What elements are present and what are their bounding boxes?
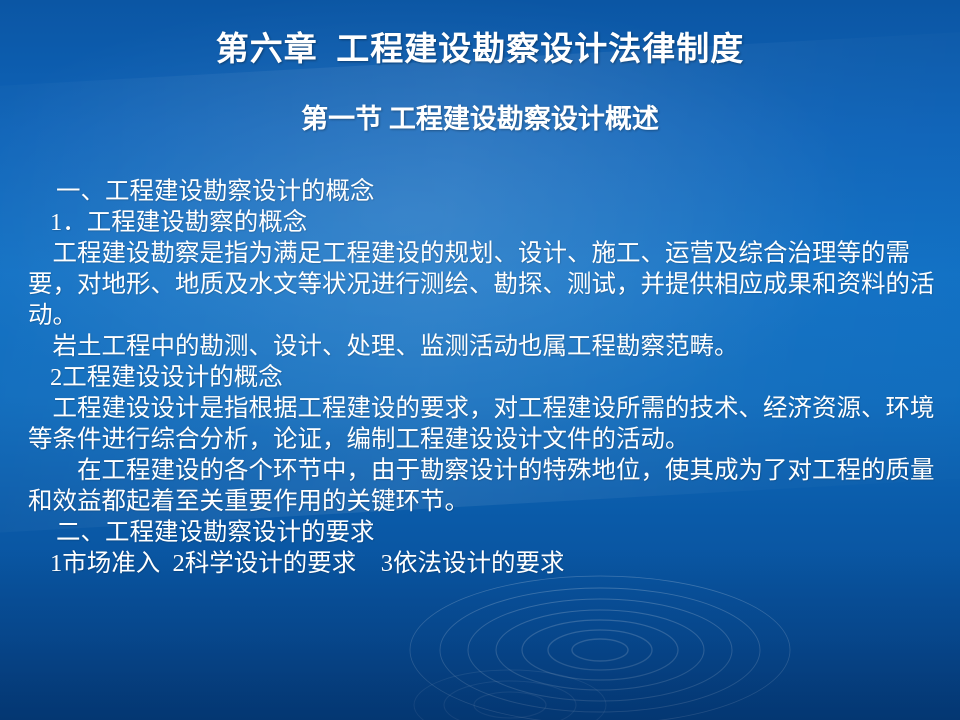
body-paragraph: 在工程建设的各个环节中，由于勘察设计的特殊地位，使其成为了对工程的质量和效益都起… xyxy=(28,455,940,517)
body-paragraph: 1市场准入 2科学设计的要求 3依法设计的要求 xyxy=(28,548,940,579)
presentation-slide: 第六章 工程建设勘察设计法律制度 第一节 工程建设勘察设计概述 一、工程建设勘察… xyxy=(0,0,960,720)
slide-content: 第六章 工程建设勘察设计法律制度 第一节 工程建设勘察设计概述 一、工程建设勘察… xyxy=(0,0,960,720)
slide-body: 一、工程建设勘察设计的概念 1．工程建设勘察的概念 工程建设勘察是指为满足工程建… xyxy=(28,176,940,579)
body-paragraph: 岩土工程中的勘测、设计、处理、监测活动也属工程勘察范畴。 xyxy=(28,331,940,362)
slide-title: 第六章 工程建设勘察设计法律制度 xyxy=(0,22,960,70)
body-paragraph: 工程建设设计是指根据工程建设的要求，对工程建设所需的技术、经济资源、环境等条件进… xyxy=(28,393,940,455)
body-paragraph: 工程建设勘察是指为满足工程建设的规划、设计、施工、运营及综合治理等的需要，对地形… xyxy=(28,238,940,331)
body-paragraph: 1．工程建设勘察的概念 xyxy=(28,207,940,238)
body-paragraph: 一、工程建设勘察设计的概念 xyxy=(28,176,940,207)
body-paragraph: 二、工程建设勘察设计的要求 xyxy=(28,517,940,548)
body-paragraph: 2工程建设设计的概念 xyxy=(28,362,940,393)
slide-subtitle: 第一节 工程建设勘察设计概述 xyxy=(0,97,960,136)
